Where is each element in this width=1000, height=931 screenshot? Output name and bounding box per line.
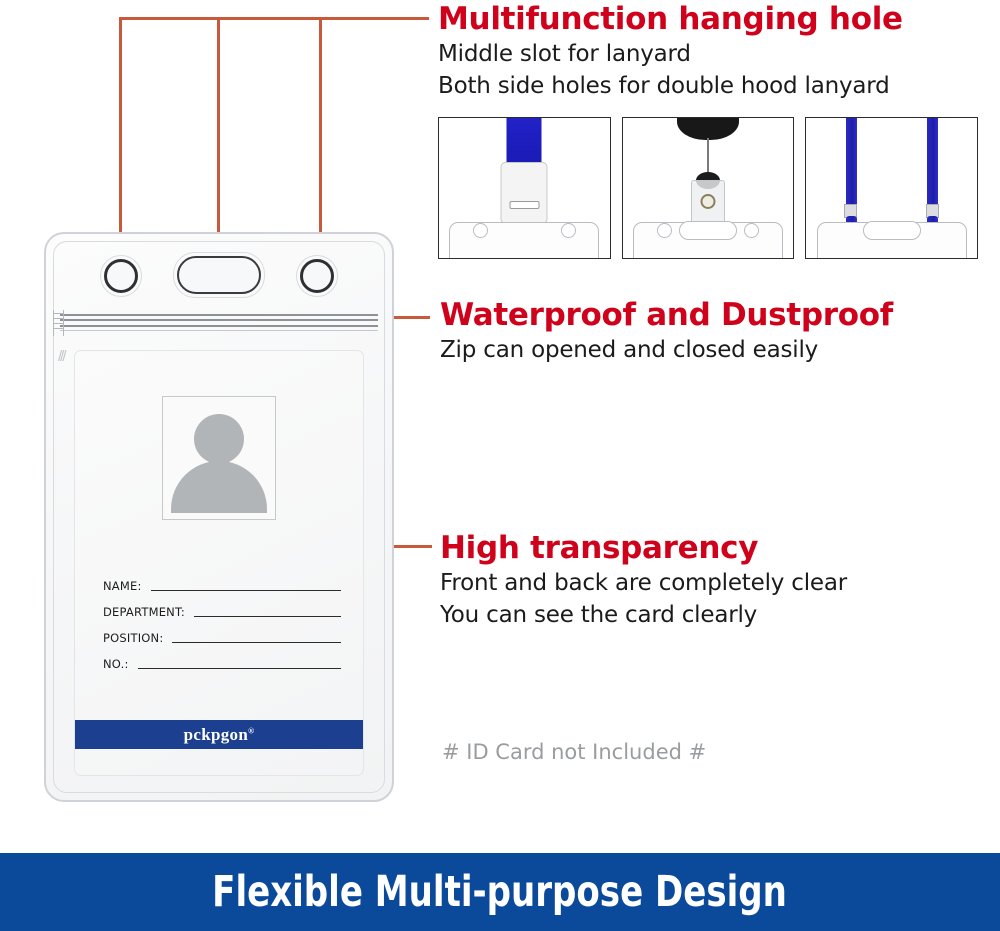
hanging-hole-right — [300, 259, 334, 293]
callout-transparency: High transparency Front and back are com… — [440, 529, 996, 631]
zip-corner-mark: /// — [58, 348, 65, 365]
field-label-department: DEPARTMENT: — [103, 605, 185, 619]
avatar — [162, 396, 276, 520]
field-blank-name — [151, 590, 341, 591]
badge-holder: /// NAME: DEPARTMENT: POSITION: — [44, 232, 394, 802]
cord-left-icon — [846, 117, 857, 210]
holder-top-edge — [449, 222, 599, 259]
field-label-position: POSITION: — [103, 631, 163, 645]
thumbnail-double-hook-lanyard — [805, 117, 978, 259]
card-fields: NAME: DEPARTMENT: POSITION: NO.: — [103, 578, 341, 682]
field-blank-department — [194, 616, 341, 617]
disclaimer-note: # ID Card not Included # — [442, 740, 706, 764]
badge-reel-icon — [677, 117, 739, 140]
callout-transparency-line-2: You can see the card clearly — [440, 599, 996, 631]
callout-waterproof-heading: Waterproof and Dustproof — [440, 296, 996, 334]
flat-lanyard-strap-icon — [507, 117, 542, 168]
bottom-banner-text: Flexible Multi-purpose Design — [213, 867, 788, 917]
hanging-hole-left — [104, 259, 138, 293]
side-hole-left-icon — [657, 223, 672, 238]
card-field-row: POSITION: — [103, 630, 341, 645]
thumbnail-retractable-badge-reel — [622, 117, 795, 259]
field-blank-position — [172, 642, 341, 643]
middle-slot-icon — [679, 221, 737, 240]
infographic-canvas: Multifunction hanging hole Middle slot f… — [0, 0, 1000, 931]
callout-hanging-hole-line-2: Both side holes for double hood lanyard — [438, 70, 994, 102]
leader-line-horizontal-top — [119, 17, 429, 20]
callout-hanging-hole-heading: Multifunction hanging hole — [438, 0, 994, 38]
card-field-row: NO.: — [103, 656, 341, 671]
brand-strip: pckpgon® — [75, 720, 363, 749]
zip-seal — [60, 314, 378, 332]
strap-snap-top-icon — [701, 194, 716, 209]
thumbnail-flat-lanyard-clip — [438, 117, 611, 259]
field-blank-no — [138, 668, 341, 669]
field-label-no: NO.: — [103, 657, 129, 671]
zip-pull-tab — [53, 310, 64, 336]
avatar-head-icon — [194, 414, 244, 464]
cord-right-icon — [927, 117, 938, 210]
card-field-row: DEPARTMENT: — [103, 604, 341, 619]
id-card: NAME: DEPARTMENT: POSITION: NO.: pckpgon — [74, 350, 364, 776]
callout-waterproof: Waterproof and Dustproof Zip can opened … — [440, 296, 996, 366]
white-clip-icon — [501, 162, 548, 224]
field-label-name: NAME: — [103, 579, 142, 593]
hanging-slot-middle — [177, 256, 261, 294]
callout-transparency-heading: High transparency — [440, 529, 996, 567]
side-hole-right-icon — [561, 223, 576, 238]
lanyard-example-thumbnails — [438, 117, 978, 259]
middle-slot-icon — [863, 221, 921, 240]
brand-name: pckpgon® — [184, 725, 255, 745]
callout-hanging-hole: Multifunction hanging hole Middle slot f… — [438, 0, 994, 102]
avatar-body-icon — [171, 461, 267, 513]
callout-transparency-line-1: Front and back are completely clear — [440, 567, 996, 599]
bottom-banner: Flexible Multi-purpose Design — [0, 853, 1000, 931]
callout-waterproof-line-1: Zip can opened and closed easily — [440, 334, 996, 366]
card-field-row: NAME: — [103, 578, 341, 593]
callout-hanging-hole-line-1: Middle slot for lanyard — [438, 38, 994, 70]
